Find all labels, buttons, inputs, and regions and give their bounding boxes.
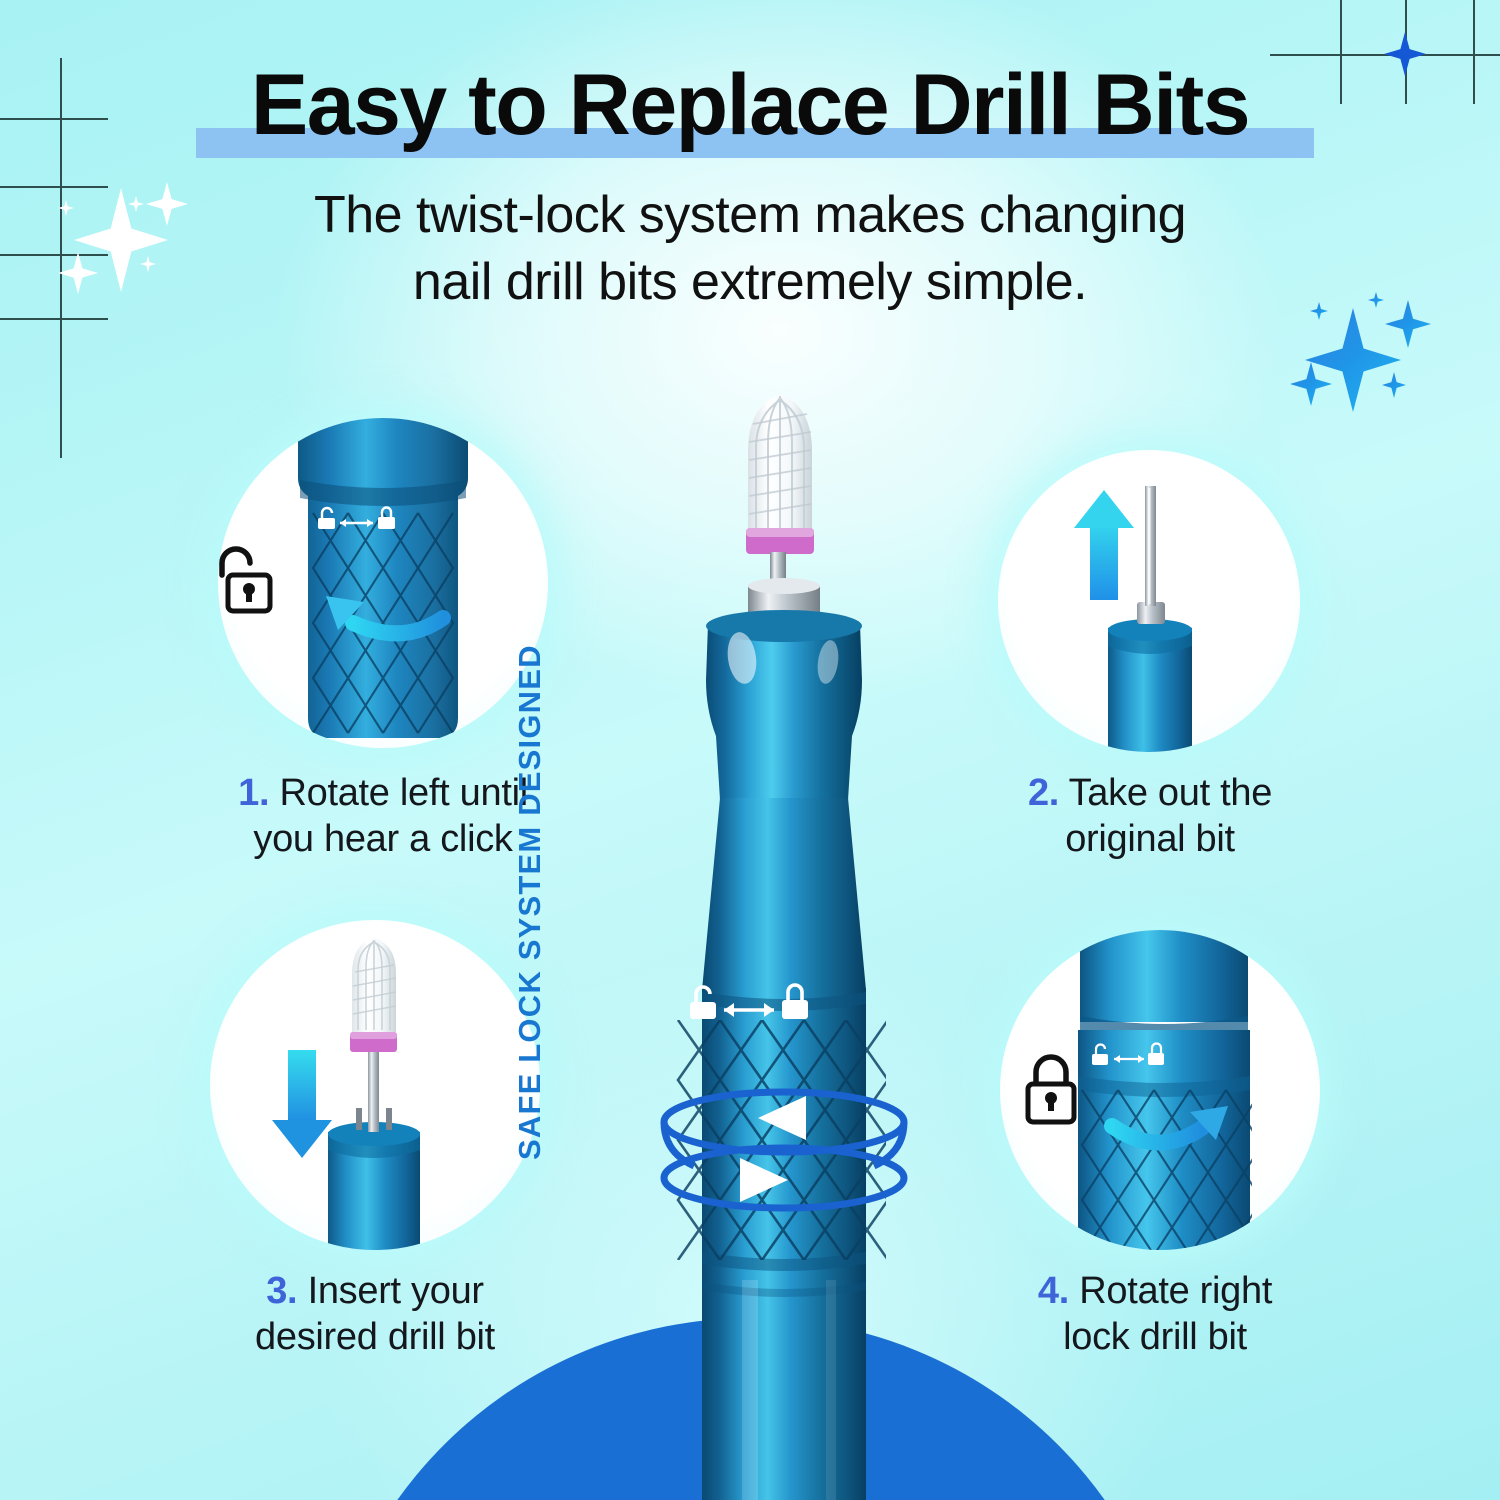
- step-4-line1: Rotate right: [1079, 1270, 1272, 1312]
- step-3-line2: desired drill bit: [165, 1314, 585, 1360]
- arrow-up-icon: [1074, 490, 1134, 600]
- arrow-down-icon: [272, 1050, 332, 1158]
- device-neck: [702, 798, 866, 990]
- step-3-caption: 3. Insert your desired drill bit: [165, 1268, 585, 1361]
- step-3-illustration: [210, 920, 540, 1250]
- page-title-text: Easy to Replace Drill Bits: [0, 62, 1500, 148]
- device-body: [702, 988, 866, 1500]
- step-2-svg: [998, 450, 1300, 752]
- step-2-line2: original bit: [940, 816, 1360, 862]
- step-3-line1: Insert your: [308, 1270, 484, 1312]
- page-subtitle-line1: The twist-lock system makes changing: [0, 182, 1500, 249]
- main-device-illustration: SAFE LOCK SYSTEM DESIGNED: [590, 380, 970, 1500]
- step-2-illustration: [998, 450, 1300, 752]
- step-4-number: 4.: [1038, 1270, 1069, 1312]
- step-2-number: 2.: [1028, 772, 1059, 814]
- step-1-number: 1.: [238, 772, 269, 814]
- step-3-svg: [210, 920, 540, 1250]
- lock-indicator-icon: [782, 1000, 808, 1019]
- page-subtitle-line2: nail drill bits extremely simple.: [0, 249, 1500, 316]
- page-subtitle: The twist-lock system makes changing nai…: [0, 182, 1500, 315]
- device-brand-label: SAFE LOCK SYSTEM DESIGNED: [512, 644, 548, 1160]
- lock-icon: [1020, 1052, 1082, 1131]
- step-2-line1: Take out the: [1069, 772, 1272, 814]
- step-4-caption: 4. Rotate right lock drill bit: [945, 1268, 1365, 1361]
- unlock-indicator-icon: [690, 1002, 716, 1019]
- page-title: Easy to Replace Drill Bits: [0, 62, 1500, 148]
- step-3-number: 3.: [266, 1270, 297, 1312]
- step-2-caption: 2. Take out the original bit: [940, 770, 1360, 863]
- step-4-line2: lock drill bit: [945, 1314, 1365, 1360]
- unlock-icon: [218, 545, 280, 624]
- infographic-canvas: Easy to Replace Drill Bits The twist-loc…: [0, 0, 1500, 1500]
- main-device-svg: [590, 380, 970, 1500]
- step-1-line1: Rotate left until: [279, 772, 527, 814]
